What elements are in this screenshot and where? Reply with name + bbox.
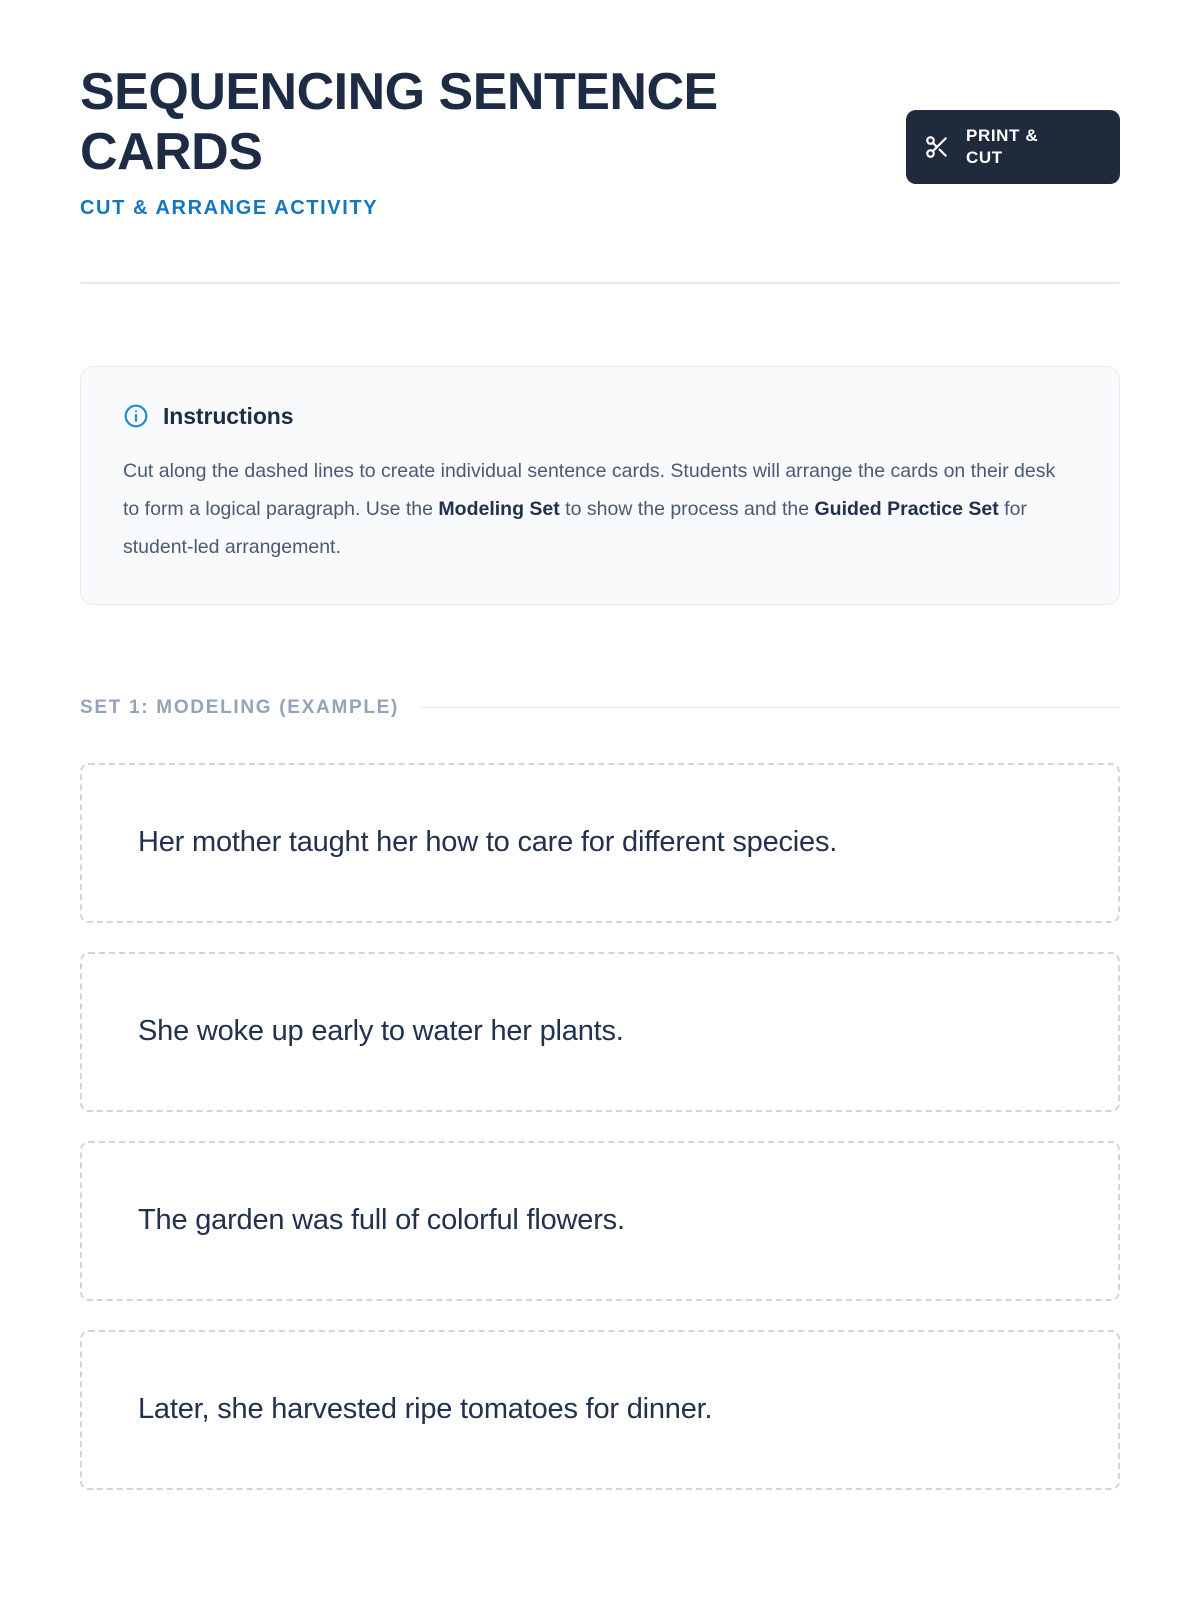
sentence-text: Later, she harvested ripe tomatoes for d… — [138, 1393, 712, 1426]
info-circle-icon — [123, 403, 149, 429]
page-title: Sequencing Sentence Cards — [80, 62, 740, 183]
instructions-header: Instructions — [123, 403, 1077, 430]
set-rule — [421, 707, 1120, 708]
sentence-card-list: Her mother taught her how to care for di… — [80, 763, 1120, 1490]
sentence-text: Her mother taught her how to care for di… — [138, 826, 837, 859]
sentence-text: She woke up early to water her plants. — [138, 1015, 624, 1048]
instructions-bold-guided-practice-set: Guided Practice Set — [815, 498, 999, 520]
sentence-card[interactable]: Her mother taught her how to care for di… — [80, 763, 1120, 923]
sentence-card[interactable]: The garden was full of colorful flowers. — [80, 1141, 1120, 1301]
set-label: Set 1: Modeling (Example) — [80, 697, 399, 719]
sentence-card[interactable]: She woke up early to water her plants. — [80, 952, 1120, 1112]
instructions-title: Instructions — [163, 403, 293, 430]
page-subtitle: Cut & Arrange Activity — [80, 197, 740, 220]
print-and-cut-button[interactable]: Print & Cut — [906, 110, 1120, 184]
header-divider — [80, 282, 1120, 284]
instructions-body: Cut along the dashed lines to create ind… — [123, 452, 1073, 566]
instructions-panel: Instructions Cut along the dashed lines … — [80, 366, 1120, 605]
worksheet-page: Sequencing Sentence Cards Cut & Arrange … — [0, 0, 1200, 1600]
instructions-bold-modeling-set: Modeling Set — [438, 498, 559, 520]
header-text-block: Sequencing Sentence Cards Cut & Arrange … — [80, 62, 740, 220]
sentence-card[interactable]: Later, she harvested ripe tomatoes for d… — [80, 1330, 1120, 1490]
instructions-text-2: to show the process and the — [560, 498, 815, 520]
print-and-cut-label: Print & Cut — [966, 125, 1054, 169]
sentence-text: The garden was full of colorful flowers. — [138, 1204, 625, 1237]
page-header: Sequencing Sentence Cards Cut & Arrange … — [80, 0, 1120, 220]
scissors-icon — [924, 134, 950, 160]
set-header: Set 1: Modeling (Example) — [80, 697, 1120, 719]
